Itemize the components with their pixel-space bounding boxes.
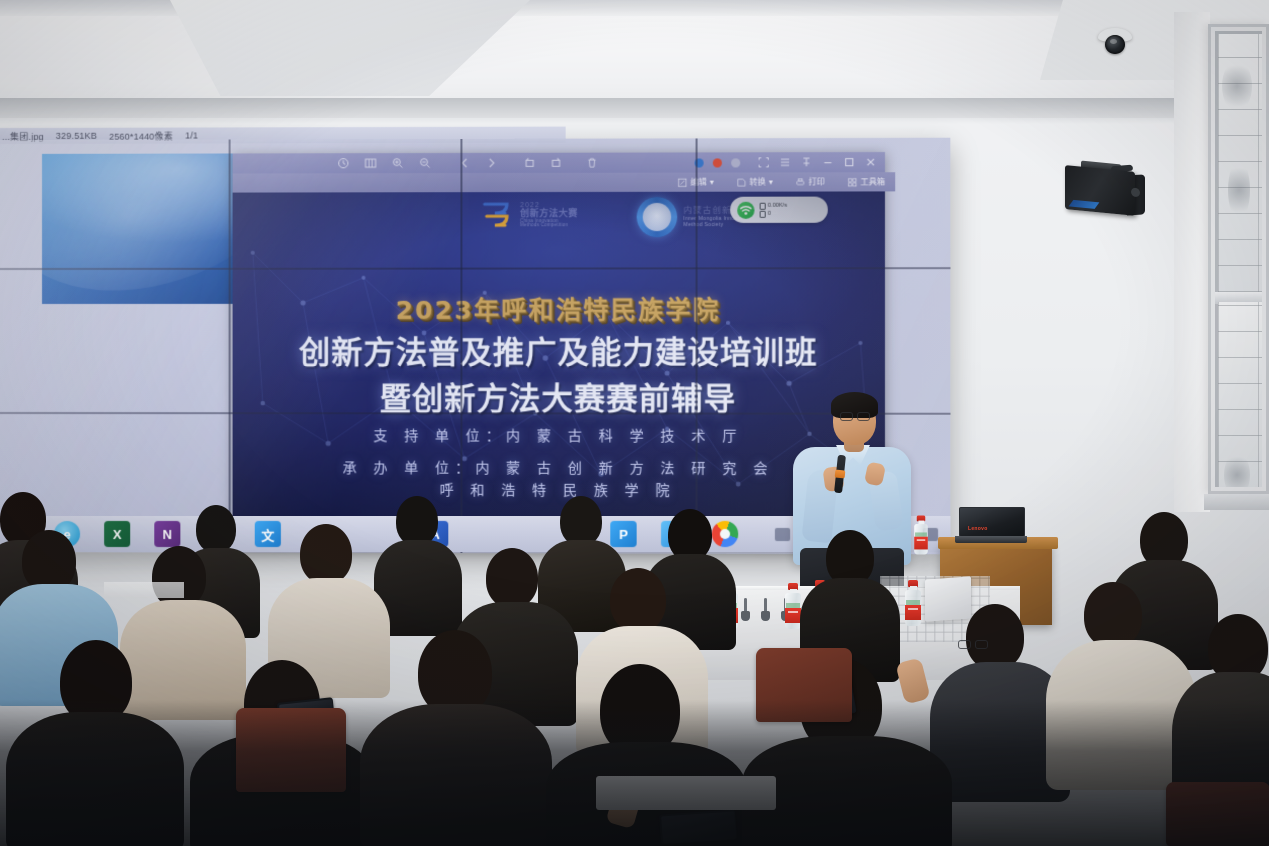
speaker-body bbox=[1065, 165, 1135, 216]
audience-desk bbox=[104, 582, 184, 598]
dome-camera-icon bbox=[1098, 28, 1132, 54]
taskbar-icon-glyph: X bbox=[113, 526, 122, 541]
audience-body-cream-hoodie bbox=[120, 600, 246, 720]
info-filesize: 329.51KB bbox=[56, 131, 97, 141]
laptop-screen: Lenovo bbox=[959, 507, 1025, 537]
audience-head bbox=[300, 524, 352, 584]
taskbar-app-wps-writer[interactable]: 文 bbox=[255, 521, 281, 547]
viewer-tool-group bbox=[233, 157, 598, 170]
rotate-left-icon[interactable] bbox=[523, 157, 535, 169]
maximize-icon[interactable] bbox=[843, 156, 855, 168]
audience-head bbox=[966, 604, 1024, 670]
close-icon[interactable] bbox=[865, 156, 877, 168]
audience-body bbox=[6, 712, 184, 846]
status-dot-blue bbox=[695, 158, 704, 167]
bottle-label bbox=[785, 608, 801, 623]
status-dot-grey bbox=[731, 158, 740, 167]
menu-item-toolbox[interactable]: 工具箱 bbox=[847, 176, 885, 187]
menu-label-convert: 转换 bbox=[749, 176, 765, 187]
slide-organizer-line2: 呼 和 浩 特 民 族 学 院 bbox=[233, 479, 885, 500]
rotate-right-icon[interactable] bbox=[550, 157, 562, 169]
photo-scene: ...集团.jpg 329.51KB 2560*1440像素 1/1 bbox=[0, 0, 1269, 846]
laptop: Lenovo bbox=[955, 507, 1025, 543]
window-sill bbox=[1204, 494, 1269, 510]
menu-caret-edit: ▾ bbox=[710, 178, 714, 187]
pin-icon[interactable] bbox=[800, 156, 812, 168]
zoom-in-icon[interactable] bbox=[392, 157, 404, 169]
window-control-group bbox=[695, 156, 885, 169]
fit-page-icon[interactable] bbox=[365, 157, 377, 169]
audience-head bbox=[610, 568, 666, 632]
window-reveal-wall bbox=[1174, 12, 1210, 512]
list-icon[interactable] bbox=[779, 156, 791, 168]
taskbar-icon-glyph: 文 bbox=[261, 524, 274, 543]
print-icon bbox=[795, 177, 805, 187]
microphone-band bbox=[835, 469, 846, 478]
audience-glasses bbox=[958, 640, 990, 649]
slide-title-line1: 2023年呼和浩特民族学院 bbox=[233, 290, 885, 327]
convert-icon bbox=[736, 177, 746, 187]
image-info-bar: ...集团.jpg 329.51KB 2560*1440像素 1/1 bbox=[0, 127, 566, 144]
prev-image-icon[interactable] bbox=[458, 157, 470, 169]
water-bottle bbox=[905, 580, 921, 626]
menu-item-convert[interactable]: 转换 ▾ bbox=[736, 176, 773, 187]
hook bbox=[764, 598, 767, 614]
slide-support-line: 支 持 单 位：内 蒙 古 科 学 技 术 厅 bbox=[233, 425, 885, 446]
laptop-brand-label: Lenovo bbox=[968, 526, 988, 532]
hook bbox=[744, 598, 747, 614]
water-bottle bbox=[785, 583, 801, 629]
audience-head bbox=[486, 548, 538, 608]
menu-caret-convert: ▾ bbox=[769, 177, 773, 186]
taskbar-icon-glyph: N bbox=[163, 526, 172, 541]
fullscreen-icon[interactable] bbox=[758, 156, 770, 168]
audience-head bbox=[1084, 582, 1142, 648]
slide-title-line2: 创新方法普及推广及能力建设培训班 bbox=[233, 327, 885, 372]
speaker-stripe bbox=[1069, 200, 1100, 209]
chair bbox=[1166, 782, 1269, 846]
taskbar-app-excel[interactable]: X bbox=[104, 521, 130, 547]
delete-icon[interactable] bbox=[586, 157, 598, 169]
bottle-label bbox=[914, 537, 928, 550]
chair bbox=[236, 708, 346, 792]
slide-title-line3: 暨创新方法大赛赛前辅导 bbox=[233, 373, 885, 419]
info-dimensions: 2560*1440像素 bbox=[109, 129, 173, 142]
camera-dome bbox=[1105, 35, 1125, 54]
menu-label-toolbox: 工具箱 bbox=[860, 176, 884, 187]
window bbox=[1208, 24, 1269, 494]
ceiling-beam-left bbox=[170, 0, 530, 96]
next-image-icon[interactable] bbox=[486, 157, 498, 169]
image-viewer-window[interactable]: 编辑 ▾ 转换 ▾ 打印 工具箱 bbox=[233, 152, 885, 550]
menu-item-print[interactable]: 打印 bbox=[795, 176, 825, 187]
taskbar-app-onenote[interactable]: N bbox=[154, 521, 180, 547]
zoom-out-icon[interactable] bbox=[419, 157, 431, 169]
menu-label-print: 打印 bbox=[808, 176, 824, 187]
status-dot-red bbox=[713, 158, 722, 167]
menu-item-edit[interactable]: 编辑 ▾ bbox=[677, 177, 714, 188]
info-page: 1/1 bbox=[185, 130, 198, 140]
smartphone[interactable] bbox=[659, 809, 737, 844]
laptop-base bbox=[955, 536, 1027, 543]
audience-laptop bbox=[925, 576, 971, 621]
taskbar-app-pdf-reader-1[interactable]: P bbox=[610, 521, 636, 547]
wallpaper-swoosh bbox=[42, 153, 233, 304]
minimize-icon[interactable] bbox=[822, 156, 834, 168]
presentation-slide: 2022 创新方法大赛 China Innovation Methods Com… bbox=[233, 191, 885, 527]
window-frame bbox=[1208, 24, 1269, 494]
audience-body bbox=[360, 704, 552, 846]
edit-icon bbox=[677, 177, 687, 187]
audience-head bbox=[560, 496, 602, 546]
info-filename: ...集团.jpg bbox=[2, 129, 44, 142]
chair bbox=[756, 648, 852, 722]
taskbar-icon-glyph: P bbox=[619, 526, 628, 541]
menu-label-edit: 编辑 bbox=[690, 177, 706, 188]
wall-speaker-icon bbox=[1065, 159, 1147, 219]
media-icon[interactable] bbox=[775, 527, 790, 540]
slide-organizer-line1: 承 办 单 位：内 蒙 古 创 新 方 法 研 究 会 bbox=[233, 457, 885, 478]
viewer-titlebar[interactable] bbox=[233, 152, 885, 174]
audience-head bbox=[396, 496, 438, 546]
toolbox-icon bbox=[847, 177, 857, 187]
audience-head bbox=[152, 546, 206, 608]
history-icon[interactable] bbox=[337, 157, 349, 169]
audience-head bbox=[196, 505, 236, 553]
speaker-knob bbox=[1131, 187, 1140, 197]
bottle-label bbox=[905, 605, 921, 620]
presenter-glasses bbox=[840, 412, 870, 421]
audience-desk bbox=[596, 776, 776, 810]
taskbar-app-chrome[interactable] bbox=[712, 521, 738, 547]
ceiling-shadow bbox=[0, 98, 1269, 124]
water-bottle bbox=[914, 515, 928, 554]
viewer-menubar[interactable]: 编辑 ▾ 转换 ▾ 打印 工具箱 bbox=[233, 172, 896, 192]
audience-head bbox=[22, 530, 76, 592]
